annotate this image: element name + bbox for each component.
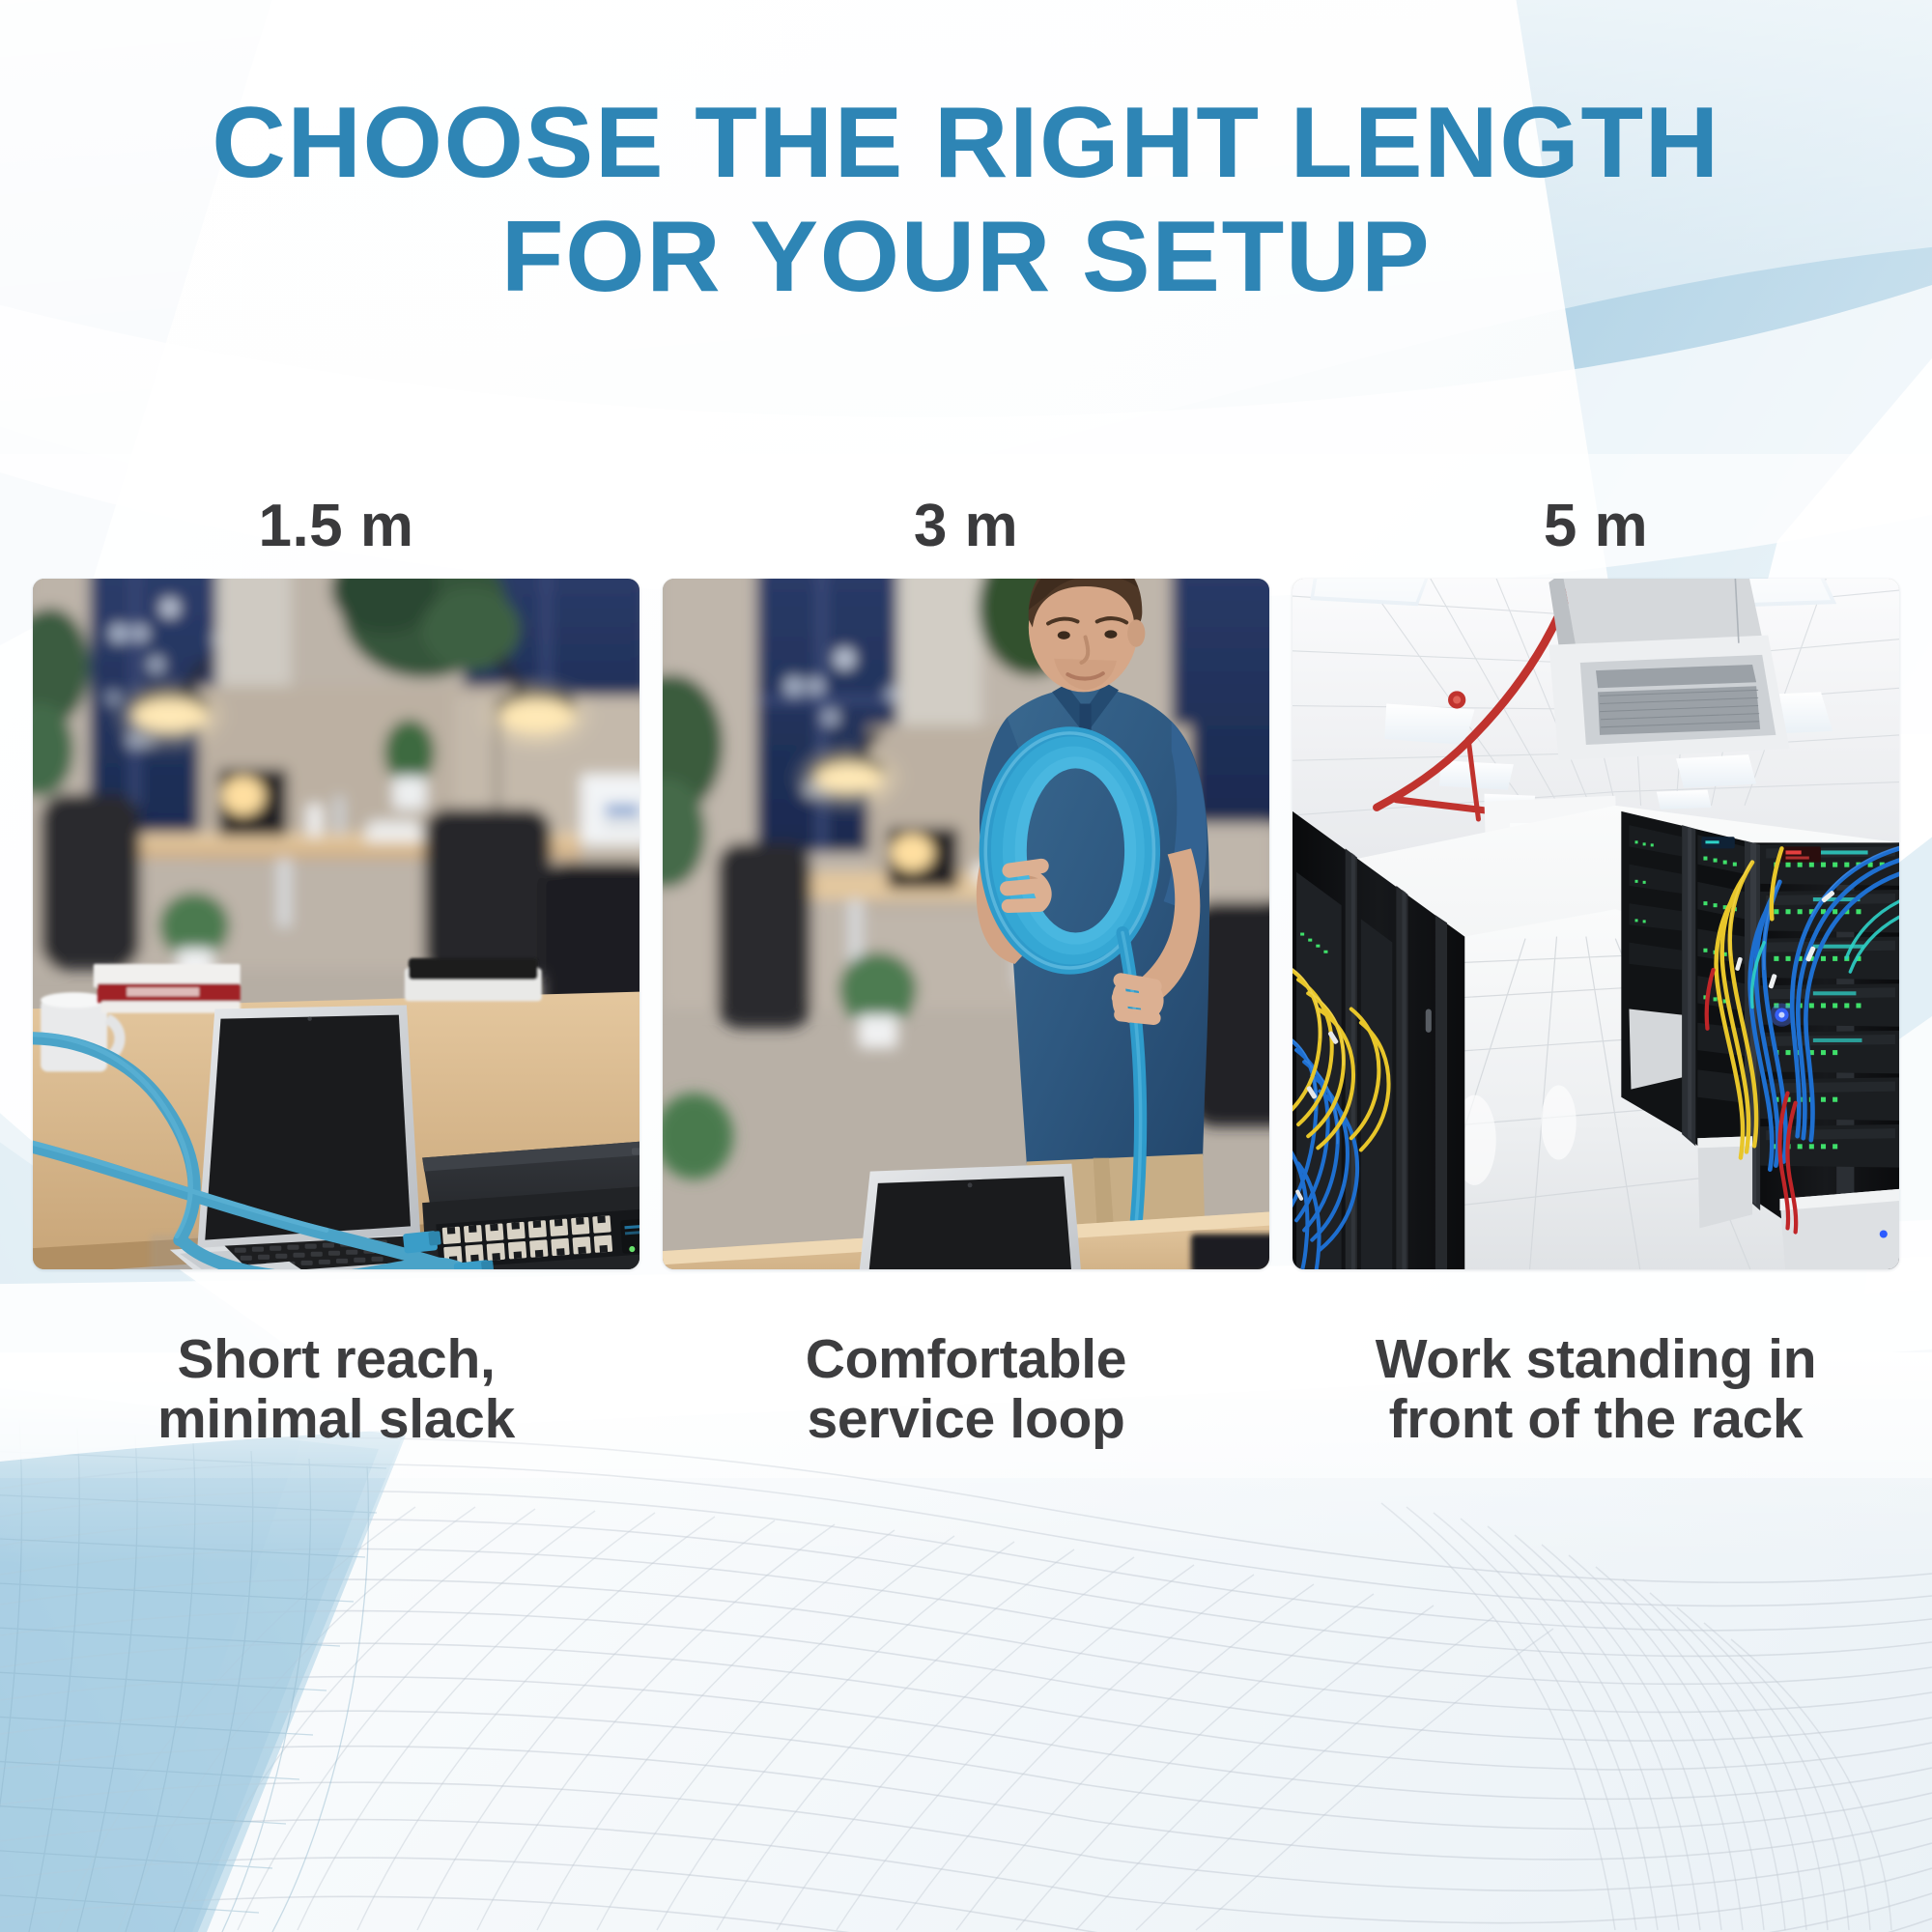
page-title: CHOOSE THE RIGHT LENGTH FOR YOUR SETUP (0, 93, 1932, 307)
photo-technician-holding-coiled-cable (663, 579, 1269, 1269)
length-label-1: 1.5 m (33, 473, 639, 579)
page-title-line-1: CHOOSE THE RIGHT LENGTH (0, 93, 1932, 193)
length-label-2: 3 m (663, 473, 1269, 579)
length-label-3: 5 m (1293, 473, 1899, 579)
page-title-line-2: FOR YOUR SETUP (0, 207, 1932, 307)
length-option-columns: 1.5 m (33, 473, 1899, 1449)
caption-2: Comfortable service loop (663, 1329, 1269, 1449)
photo-office-desk-laptop-switch (33, 579, 639, 1269)
length-option-2: 3 m (663, 473, 1269, 1449)
caption-3: Work standing in front of the rack (1293, 1329, 1899, 1449)
length-option-3: 5 m (1293, 473, 1899, 1449)
length-option-1: 1.5 m (33, 473, 639, 1449)
caption-1: Short reach, minimal slack (33, 1329, 639, 1449)
photo-data-center-aisle (1293, 579, 1899, 1269)
